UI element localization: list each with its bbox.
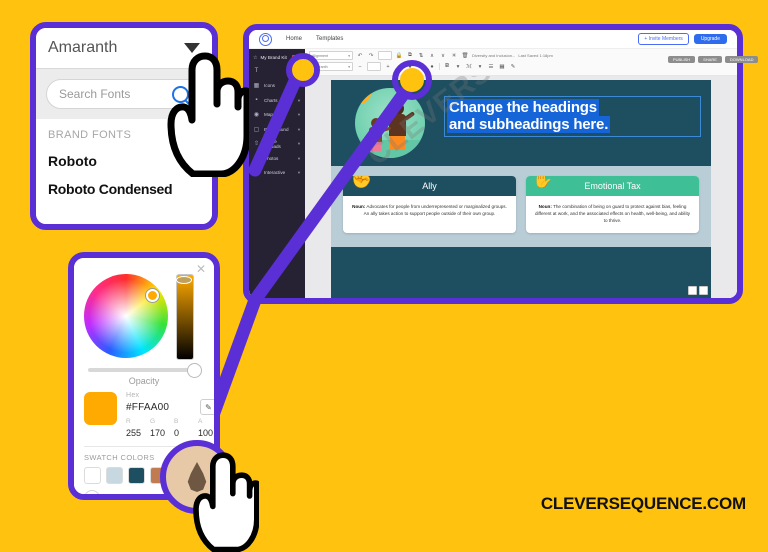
chevron-down-icon: ▼: [297, 141, 301, 146]
pencil-icon[interactable]: ✎: [509, 64, 517, 70]
interactive-icon: ⇄: [253, 169, 260, 176]
bold-icon[interactable]: 𝐁: [443, 63, 451, 70]
undo-icon[interactable]: ↶: [356, 53, 364, 59]
highlight-ring-color-drop: [160, 440, 234, 514]
adult-legs: [390, 136, 405, 150]
card-emotional-tax[interactable]: ✋ Emotional Tax Noun: The combination of…: [526, 176, 699, 233]
swatch-light-blue[interactable]: [106, 467, 123, 484]
chevron-down-icon[interactable]: ▾: [454, 64, 462, 70]
shuffle-icon[interactable]: ✳: [450, 53, 458, 59]
font-select-value: Amaranth: [48, 39, 117, 57]
share-button[interactable]: SHARE: [698, 56, 722, 63]
card-ally[interactable]: ✊ Ally Noun: Advocates for people from u…: [343, 176, 516, 233]
headline-line-1: Change the headings: [447, 99, 599, 116]
decrease-font-button[interactable]: −: [356, 64, 364, 70]
chevron-down-icon: ▾: [348, 65, 350, 69]
page-control-button[interactable]: [699, 286, 708, 295]
color-wheel-handle[interactable]: [146, 289, 159, 302]
color-values-row: Hex #FFAA00 ✎ R G B A 255 170 0: [84, 392, 204, 438]
photo-icon: ▣: [253, 155, 260, 162]
page-controls[interactable]: [688, 286, 708, 295]
opacity-label: Opacity: [84, 376, 204, 386]
eyedropper-icon[interactable]: ✎: [200, 399, 214, 415]
search-fonts-input[interactable]: Search Fonts: [46, 79, 202, 109]
chevron-down-icon: ▾: [348, 54, 350, 58]
grid-icon[interactable]: [378, 51, 392, 60]
child-legs: [370, 142, 381, 151]
a-label: A: [198, 418, 214, 425]
cards-row: ✊ Ally Noun: Advocates for people from u…: [331, 166, 711, 247]
adult-figure: [389, 102, 406, 150]
chart-icon: ▪: [253, 97, 260, 104]
copy-icon[interactable]: ⧉: [406, 52, 414, 59]
border-color-icon[interactable]: ●: [428, 64, 436, 70]
lock-icon[interactable]: 🔒: [395, 53, 403, 59]
hand-emoji-icon: ✋: [532, 176, 553, 190]
trash-icon[interactable]: 🗑: [461, 53, 469, 59]
table-icon[interactable]: ▦: [498, 64, 506, 70]
search-input-placeholder: Search Fonts: [59, 87, 130, 101]
sidebar-item-label: Charts: [264, 98, 278, 103]
brightness-slider[interactable]: [176, 274, 194, 360]
brand-fonts-header: BRAND FONTS: [36, 119, 212, 147]
highlight-dot-color: [400, 68, 424, 92]
circle-logo-icon: [259, 33, 272, 46]
b-label: B: [174, 418, 193, 425]
star-icon: ☆: [253, 55, 257, 61]
sidebar-item-label: Background: [264, 127, 289, 132]
hex-line: #FFAA00 ✎: [126, 399, 214, 415]
swatch-dark-teal[interactable]: [128, 467, 145, 484]
sun-shape: [355, 88, 371, 104]
upload-icon: ⇧: [253, 140, 260, 147]
chevron-down-icon[interactable]: ▾: [476, 64, 484, 70]
background-icon: ▢: [253, 126, 260, 133]
rgba-labels: R G B A: [126, 418, 214, 425]
map-icon: ◉: [253, 111, 260, 118]
list-icon[interactable]: ☰: [487, 64, 495, 70]
headline: Change the headings and subheadings here…: [447, 99, 698, 134]
chevron-down-icon: ▼: [297, 112, 301, 117]
app-top-actions: + Invite Members Upgrade: [638, 33, 727, 45]
document-title[interactable]: Diversity and Inclusion...: [472, 53, 515, 58]
r-value[interactable]: 255: [126, 428, 145, 438]
link-icon[interactable]: ℳ: [465, 64, 473, 70]
g-label: G: [150, 418, 169, 425]
b-value[interactable]: 0: [174, 428, 193, 438]
design-page[interactable]: Change the headings and subheadings here…: [331, 80, 711, 298]
font-dropdown-panel: Amaranth Search Fonts BRAND FONTS Roboto…: [36, 28, 212, 224]
page-control-button[interactable]: [688, 286, 697, 295]
sidebar-item-interactive[interactable]: ⇄ Interactive ▼: [249, 166, 305, 181]
child-figure: [369, 118, 382, 152]
add-swatch-button[interactable]: +: [84, 490, 100, 494]
chevron-down-icon: ▼: [297, 156, 301, 161]
card-definition-text: The combination of being on guard to pro…: [535, 204, 690, 223]
redo-icon[interactable]: ↷: [367, 53, 375, 59]
fist-emoji-icon: ✊: [351, 176, 372, 190]
headline-line-2: and subheadings here.: [447, 116, 610, 133]
opacity-slider[interactable]: [88, 368, 200, 372]
chevron-down-icon: ▼: [297, 127, 301, 132]
chevron-down-icon: ▼: [297, 98, 301, 103]
chevron-down-icon: [184, 43, 200, 53]
app-top-bar: Home Templates + Invite Members Upgrade: [249, 30, 737, 49]
hero-section: Change the headings and subheadings here…: [331, 80, 711, 166]
hex-input[interactable]: #FFAA00: [126, 402, 169, 413]
increase-font-button[interactable]: +: [384, 64, 392, 70]
color-fields: Hex #FFAA00 ✎ R G B A 255 170 0: [126, 392, 214, 438]
color-drop-icon[interactable]: [186, 462, 208, 492]
invite-members-button[interactable]: + Invite Members: [638, 33, 689, 45]
font-dropdown-callout: Amaranth Search Fonts BRAND FONTS Roboto…: [30, 22, 218, 230]
canvas-scroll-area[interactable]: Change the headings and subheadings here…: [305, 76, 737, 298]
left-sidebar: ☆ My Brand Kit T ▼ ▦ Icons ▼ ▪: [249, 49, 305, 298]
font-search-wrap: Search Fonts: [36, 69, 212, 119]
font-option-roboto[interactable]: Roboto: [36, 147, 212, 175]
opacity-slider-handle[interactable]: [187, 363, 202, 378]
publish-button[interactable]: PUBLISH: [668, 56, 695, 63]
up-icon[interactable]: ∧: [428, 53, 436, 59]
work-area: Alignment ▾ ↶ ↷ 🔒 ⧉ ⇅ ∧ ∨ ✳: [305, 49, 737, 298]
sidebar-item-label: Interactive: [264, 170, 285, 175]
r-label: R: [126, 418, 145, 425]
sidebar-item-label: Icons: [264, 83, 275, 88]
text-icon: T: [253, 68, 260, 75]
a-value[interactable]: 100: [198, 428, 214, 438]
app-body: ☆ My Brand Kit T ▼ ▦ Icons ▼ ▪: [249, 49, 737, 298]
close-icon[interactable]: ✕: [196, 262, 206, 276]
card-term: Noun:: [352, 204, 365, 209]
sidebar-item-image-uploads[interactable]: ⇧ Image Uploads ▼: [249, 137, 305, 152]
align-icon[interactable]: ⇅: [417, 53, 425, 59]
current-color-preview[interactable]: [84, 392, 117, 425]
swatch-white[interactable]: [84, 467, 101, 484]
nav-templates[interactable]: Templates: [316, 36, 343, 42]
footer-brand: CLEVERSEQUENCE.COM: [541, 494, 746, 514]
icons-icon: ▦: [253, 82, 260, 89]
rgba-values: 255 170 0 100: [126, 428, 214, 438]
g-value[interactable]: 170: [150, 428, 169, 438]
sidebar-item-maps[interactable]: ◉ Maps ▼: [249, 108, 305, 123]
font-select[interactable]: Amaranth: [36, 28, 212, 69]
sidebar-brand-kit-label: My Brand Kit: [260, 55, 286, 60]
hex-label: Hex: [126, 392, 214, 399]
card-definition: Noun: The combination of being on guard …: [526, 196, 699, 233]
app-action-buttons: PUBLISH SHARE DOWNLOAD: [668, 56, 758, 63]
sidebar-item-label: Photos: [264, 156, 278, 161]
sidebar-item-charts[interactable]: ▪ Charts ▼: [249, 93, 305, 108]
highlight-dot-font-select: [292, 59, 314, 81]
saved-status: Last Saved 1:18pm: [518, 53, 552, 58]
search-icon[interactable]: [172, 86, 189, 103]
screenshot-stage: Home Templates + Invite Members Upgrade …: [0, 0, 768, 540]
upgrade-button[interactable]: Upgrade: [694, 34, 727, 44]
sidebar-item-label: Image Uploads: [264, 139, 293, 149]
headline-text-box[interactable]: Change the headings and subheadings here…: [444, 96, 701, 137]
toolbar-row-2: Amaranth ▾ − + ● ● ● ● 𝐁 ▾: [309, 62, 733, 71]
divider: [439, 63, 440, 70]
color-wheel[interactable]: [84, 274, 168, 358]
download-button[interactable]: DOWNLOAD: [725, 56, 759, 63]
app-window: Home Templates + Invite Members Upgrade …: [249, 30, 737, 298]
opacity-control: Opacity: [84, 368, 204, 386]
sidebar-item-background[interactable]: ▢ Background ▼: [249, 122, 305, 137]
sidebar-item-label: Maps: [264, 112, 275, 117]
nav-home[interactable]: Home: [286, 36, 302, 42]
sidebar-item-photos[interactable]: ▣ Photos ▼: [249, 151, 305, 166]
color-wheel-row: [84, 274, 204, 360]
down-icon[interactable]: ∨: [439, 53, 447, 59]
card-definition: Noun: Advocates for people from underrep…: [343, 196, 516, 226]
brightness-slider-handle[interactable]: [176, 276, 192, 284]
card-definition-text: Advocates for people from underrepresent…: [364, 204, 507, 216]
card-term: Noun:: [539, 204, 552, 209]
chevron-down-icon: ▼: [297, 170, 301, 175]
font-option-roboto-condensed[interactable]: Roboto Condensed: [36, 175, 212, 203]
font-size-input[interactable]: [367, 62, 381, 71]
